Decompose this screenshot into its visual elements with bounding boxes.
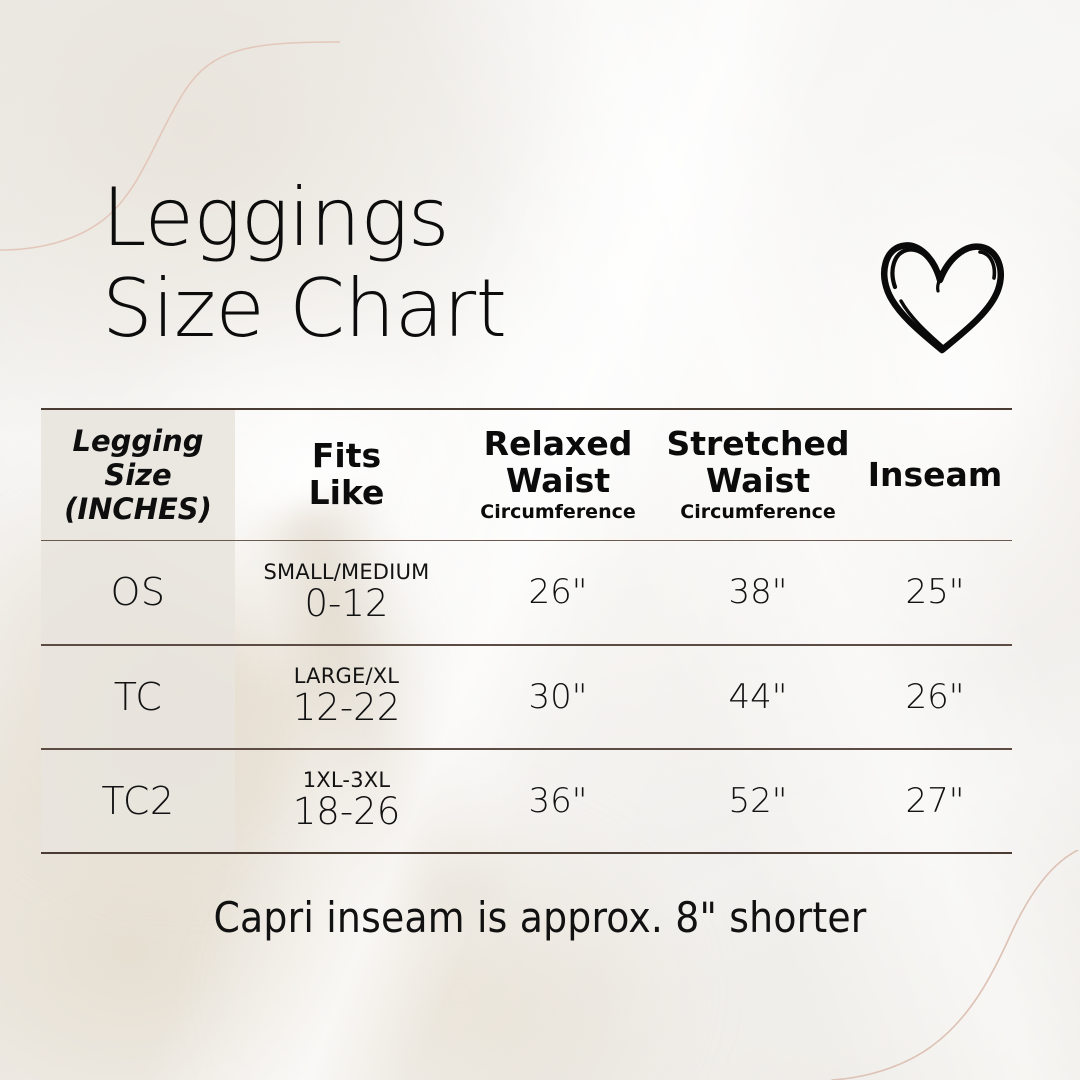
table-body: OS SMALL/MEDIUM 0-12 26" 38" 25" TC LARG… <box>41 541 1012 853</box>
page-title-line-2: Size Chart <box>102 263 662 354</box>
size-chart-table: Legging Size (INCHES) Fits Like Relaxed … <box>41 408 1012 854</box>
cell-relaxed-waist: 36" <box>458 749 658 853</box>
footer-note: Capri inseam is approx. 8" shorter <box>0 893 1080 942</box>
table-header: Legging Size (INCHES) Fits Like Relaxed … <box>41 409 1012 541</box>
column-header-stretched-waist: Stretched Waist Circumference <box>658 409 858 541</box>
column-header-stretched-waist-line2: Waist <box>658 463 858 500</box>
cell-size: TC <box>41 645 235 749</box>
column-header-legging-size-line1: Legging Size <box>41 424 235 492</box>
cell-fits-like: 1XL-3XL 18-26 <box>235 749 458 853</box>
table-row: TC2 1XL-3XL 18-26 36" 52" 27" <box>41 749 1012 853</box>
cell-stretched-waist: 38" <box>658 541 858 645</box>
column-header-legging-size-line2: (INCHES) <box>41 492 235 526</box>
cell-size: OS <box>41 541 235 645</box>
column-header-stretched-waist-line1: Stretched <box>658 426 858 463</box>
column-header-fits-like-line1: Fits <box>235 438 458 475</box>
table-row: OS SMALL/MEDIUM 0-12 26" 38" 25" <box>41 541 1012 645</box>
cell-fits-like: LARGE/XL 12-22 <box>235 645 458 749</box>
cell-relaxed-waist: 26" <box>458 541 658 645</box>
cell-fits-band: 1XL-3XL <box>303 769 391 791</box>
cell-fits-band: LARGE/XL <box>294 665 399 687</box>
table-header-row: Legging Size (INCHES) Fits Like Relaxed … <box>41 409 1012 541</box>
page-title: Leggings Size Chart <box>102 172 662 354</box>
cell-fits-numeric: 18-26 <box>293 793 401 832</box>
cell-fits-numeric: 12-22 <box>293 689 401 728</box>
cell-size: TC2 <box>41 749 235 853</box>
cell-fits-numeric: 0-12 <box>305 585 389 624</box>
cell-inseam: 27" <box>858 749 1012 853</box>
cell-stretched-waist: 52" <box>658 749 858 853</box>
cell-inseam: 26" <box>858 645 1012 749</box>
column-header-legging-size: Legging Size (INCHES) <box>41 409 235 541</box>
cell-inseam: 25" <box>858 541 1012 645</box>
cell-stretched-waist: 44" <box>658 645 858 749</box>
size-chart-page: Leggings Size Chart Legging Size (INCHES… <box>0 0 1080 1080</box>
column-header-relaxed-waist: Relaxed Waist Circumference <box>458 409 658 541</box>
column-header-fits-like: Fits Like <box>235 409 458 541</box>
cell-fits-like: SMALL/MEDIUM 0-12 <box>235 541 458 645</box>
column-header-relaxed-waist-line2: Waist <box>458 463 658 500</box>
table-row: TC LARGE/XL 12-22 30" 44" 26" <box>41 645 1012 749</box>
column-header-relaxed-waist-line1: Relaxed <box>458 426 658 463</box>
column-header-fits-like-line2: Like <box>235 475 458 512</box>
cell-relaxed-waist: 30" <box>458 645 658 749</box>
page-title-line-1: Leggings <box>102 172 662 263</box>
cell-fits-band: SMALL/MEDIUM <box>264 561 430 583</box>
corner-curve-bottom-right-icon <box>820 850 1080 1080</box>
column-header-inseam: Inseam <box>858 409 1012 541</box>
column-header-relaxed-waist-sub: Circumference <box>458 501 658 524</box>
heart-doodle-icon <box>876 232 1008 358</box>
column-header-stretched-waist-sub: Circumference <box>658 501 858 524</box>
column-header-inseam-label: Inseam <box>858 457 1012 494</box>
